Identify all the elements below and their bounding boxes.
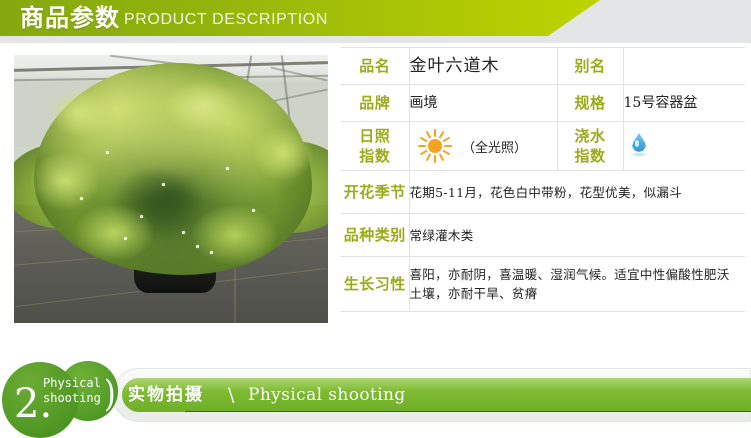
banner-label-cn: 实物拍摄 [128,383,204,407]
spec-value-growth-habit: 喜阳，亦耐阴，喜温暖、湿润气候。适宜中性偏酸性肥沃土壤，亦耐干旱、贫瘠 [409,257,745,312]
spec-value-sunlight: （全光照） [409,122,557,171]
foliage-highlight [252,125,314,181]
foliage-highlight [48,89,112,137]
table-row: 品牌 画境 规格 15号容器盆 [341,85,745,122]
flower [196,245,199,248]
section-banner: 实物拍摄 \ Physical shooting 2. Physical sho… [0,360,751,437]
flower [252,209,255,212]
flower [182,231,185,234]
spec-label-growth-habit: 生长习性 [341,257,409,312]
flower [80,197,83,200]
table-row: 开花季节 花期5-11月，花色白中带粉，花型优美，似漏斗 [341,171,745,214]
water-drop-icon [628,131,652,161]
product-spec-table: 品名 金叶六道木 别名 品牌 画境 规格 15号容器盆 日照 指数 [341,47,745,312]
spec-value-bloom-season: 花期5-11月，花色白中带粉，花型优美，似漏斗 [409,171,745,214]
product-photo [14,55,328,323]
spec-label-pinpai: 品牌 [341,85,409,122]
sun-icon [418,129,452,163]
spec-label-guige: 规格 [557,85,623,122]
badge-label: Physical shooting [43,376,101,406]
flower [140,215,143,218]
page-title-cn: 商品参数 [20,4,120,33]
banner-separator: \ [228,382,234,408]
page-title-en: PRODUCT DESCRIPTION [124,10,328,29]
flower [226,167,229,170]
spec-value-pinming: 金叶六道木 [409,48,557,85]
spec-value-guige: 15号容器盆 [623,85,745,122]
spec-label-sunlight: 日照 指数 [341,122,409,171]
header-gray-strip [0,36,751,43]
spec-label-pinming: 品名 [341,48,409,85]
spec-value-pinpai: 画境 [409,85,557,122]
flower [106,151,109,154]
foliage-highlight [30,151,100,211]
table-row: 生长习性 喜阳，亦耐阴，喜温暖、湿润气候。适宜中性偏酸性肥沃土壤，亦耐干旱、贫瘠 [341,257,745,312]
banner-label-en: Physical shooting [248,382,406,408]
spec-value-category: 常绿灌木类 [409,214,745,257]
table-row: 日照 指数 （全光照） [341,122,745,171]
foliage-highlight [192,205,278,265]
spec-label-bloom-season: 开花季节 [341,171,409,214]
spec-value-watering [623,122,745,171]
spec-label-watering: 浇水 指数 [557,122,623,171]
spec-label-biemimg: 别名 [557,48,623,85]
table-row: 品名 金叶六道木 别名 [341,48,745,85]
table-row: 品种类别 常绿灌木类 [341,214,745,257]
banner-sheen [122,378,751,391]
foliage-highlight [74,205,154,261]
foliage-highlight [164,81,242,133]
badge-paren: ) [104,375,116,416]
banner-underline [185,411,751,412]
flower [210,251,213,254]
sunlight-caption: （全光照） [462,137,527,156]
page-header: 商品参数 PRODUCT DESCRIPTION [0,0,751,42]
flower [162,183,165,186]
flower [124,237,127,240]
spec-label-category: 品种类别 [341,214,409,257]
spec-value-biemimg [623,48,745,85]
